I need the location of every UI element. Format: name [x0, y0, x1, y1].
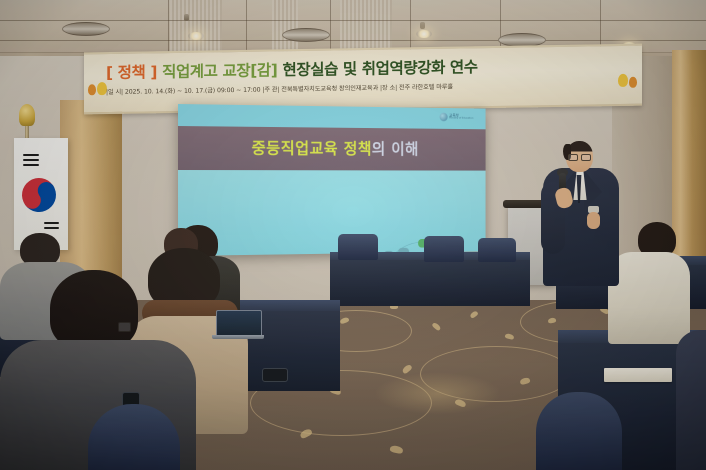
smartphone — [262, 368, 288, 382]
attendee-body — [608, 252, 690, 344]
leaf-decoration-icon — [88, 84, 96, 95]
projection-screen: 교육부 Ministry of Education 중등직업교육 정책의 이해 … — [178, 104, 486, 256]
banner-title-dark: 현장실습 및 취업역량강화 연수 — [282, 58, 477, 79]
laptop — [216, 310, 262, 338]
glasses-icon — [118, 322, 140, 330]
wood-column-left — [60, 100, 122, 280]
banner-title-green: 직업계고 교장[감] — [157, 61, 282, 81]
presentation-slide: 교육부 Ministry of Education 중등직업교육 정책의 이해 … — [178, 104, 486, 256]
slide-header: 교육부 Ministry of Education — [178, 104, 486, 129]
slide-title-main: 중등직업교육 정책 — [252, 139, 372, 158]
ceiling-light — [188, 32, 204, 40]
chair — [424, 236, 464, 262]
attendee-body — [676, 330, 706, 470]
sprinkler-head — [420, 22, 425, 29]
banner-title-policy: [ 정책 ] — [106, 63, 157, 82]
taeguk-symbol-icon — [15, 171, 62, 218]
ministry-logo: 교육부 Ministry of Education — [439, 113, 473, 122]
ceiling-vent — [282, 28, 330, 42]
table-row — [330, 260, 530, 306]
slide-title-rest: 의 이해 — [372, 140, 419, 158]
flag-finial-icon — [19, 104, 35, 126]
chair — [478, 238, 516, 262]
banner-title: [ 정책 ] 직업계고 교장[감] 현장실습 및 취업역량강화 연수 — [106, 53, 626, 83]
laptop-base — [212, 335, 264, 339]
attendee-head — [50, 270, 138, 350]
notebook — [604, 368, 672, 382]
sprinkler-head — [184, 14, 189, 21]
slide-title: 중등직업교육 정책의 이해 — [178, 134, 486, 159]
event-banner: [ 정책 ] 직업계고 교장[감] 현장실습 및 취업역량강화 연수 |일 시|… — [84, 44, 642, 115]
conference-photo: [ 정책 ] 직업계고 교장[감] 현장실습 및 취업역량강화 연수 |일 시|… — [0, 0, 706, 470]
chair — [338, 234, 378, 260]
leaf-decoration-icon — [629, 77, 637, 88]
ceiling-light — [416, 30, 432, 38]
glasses-icon — [568, 154, 590, 159]
chair — [536, 392, 622, 470]
speaker-hand-right — [587, 212, 600, 229]
ministry-logo-sub: Ministry of Education — [449, 118, 473, 121]
ministry-emblem-icon — [439, 113, 447, 122]
ceiling-vent — [62, 22, 110, 36]
